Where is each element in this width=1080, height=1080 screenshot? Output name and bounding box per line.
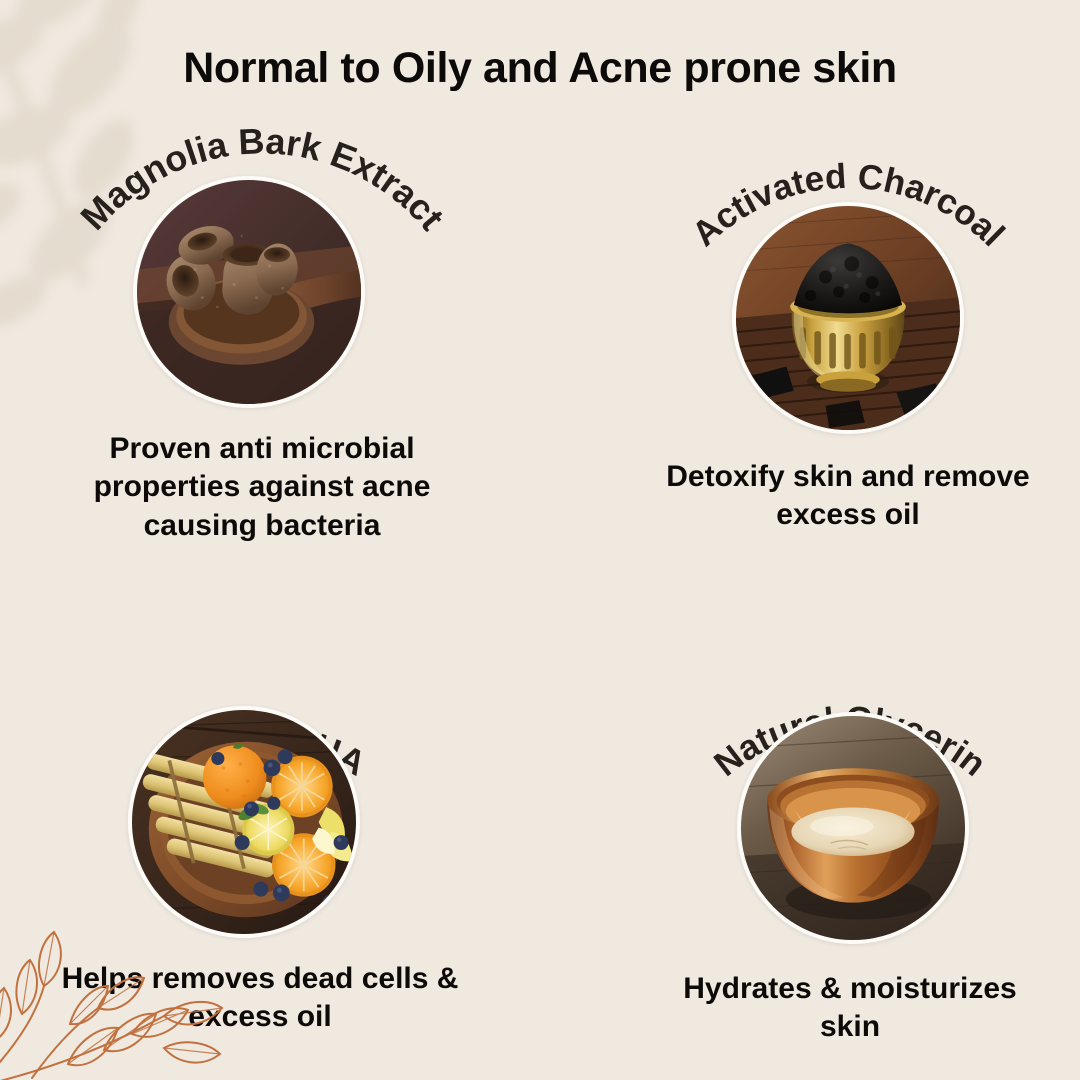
ingredient-card-glycerin: Natural Glycerin: [590, 658, 1080, 1047]
page-title: Normal to Oily and Acne prone skin: [0, 44, 1080, 93]
ingredient-card-charcoal: Activated Charcoal: [588, 158, 1080, 535]
poster-canvas: Normal to Oily and Acne prone skin Magno…: [0, 0, 1080, 1080]
ingredient-photo-aha: [128, 706, 360, 938]
activated-charcoal-pot-image: [736, 206, 960, 430]
magnolia-bark-rolls-image: [137, 180, 361, 404]
ingredient-card-magnolia: Magnolia Bark Extract: [2, 130, 522, 545]
ingredient-caption-glycerin: Hydrates & moisturizes skin: [590, 970, 1080, 1047]
ingredient-photo-charcoal: [732, 202, 964, 434]
ingredient-photo-glycerin: [737, 712, 969, 944]
ingredient-caption-aha: Helps removes dead cells & excess oil: [0, 960, 520, 1037]
copper-bowl-glycerin-image: [741, 716, 965, 940]
ingredient-caption-magnolia: Proven anti microbial properties against…: [2, 430, 522, 545]
ingredient-card-aha: Natural AHA: [0, 650, 520, 1037]
ingredient-photo-magnolia: [133, 176, 365, 408]
ingredient-caption-charcoal: Detoxify skin and remove excess oil: [588, 458, 1080, 535]
citrus-sugarcane-plate-image: [132, 710, 356, 934]
